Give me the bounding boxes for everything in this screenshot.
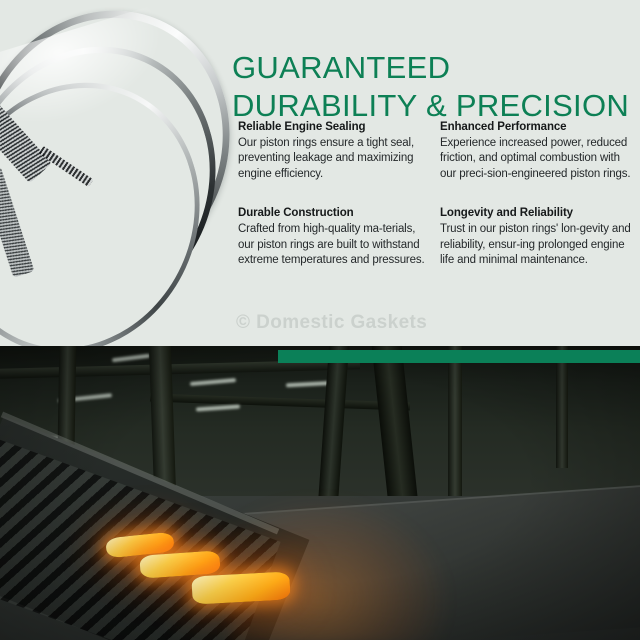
feature-body: Our piston rings ensure a tight seal, pr… (238, 136, 430, 182)
feature-grid: Reliable Engine Sealing Our piston rings… (238, 120, 636, 268)
marketing-banner: GUARANTEED DURABILITY & PRECISION Reliab… (0, 0, 640, 640)
industrial-plant-photo: 15 (0, 346, 640, 640)
glowing-hot-billet (191, 571, 290, 604)
copyright-watermark: © Domestic Gaskets (236, 312, 427, 334)
feature-card-longevity-and-reliability: Longevity and Reliability Trust in our p… (440, 206, 632, 268)
ceiling-light (190, 378, 236, 386)
ceiling-light (196, 404, 240, 411)
feature-title: Durable Construction (238, 206, 430, 220)
page-title: GUARANTEED DURABILITY & PRECISION (232, 49, 632, 125)
green-accent-bar (278, 350, 640, 363)
heat-haze-glow (230, 496, 450, 640)
overhead-beam-secondary (150, 393, 410, 410)
feature-card-reliable-engine-sealing: Reliable Engine Sealing Our piston rings… (238, 120, 430, 182)
feature-card-durable-construction: Durable Construction Crafted from high-q… (238, 206, 430, 268)
piston-rings-product-image (0, 6, 240, 346)
feature-body: Experience increased power, reduced fric… (440, 136, 632, 182)
structural-column (448, 346, 462, 496)
structural-column (556, 346, 568, 468)
feature-title: Reliable Engine Sealing (238, 120, 430, 134)
feature-title: Longevity and Reliability (440, 206, 632, 220)
ceiling-light (112, 354, 150, 363)
feature-title: Enhanced Performance (440, 120, 632, 134)
feature-body: Crafted from high-quality ma-terials, ou… (238, 222, 430, 268)
feature-card-enhanced-performance: Enhanced Performance Experience increase… (440, 120, 632, 182)
feature-body: Trust in our piston rings' lon-gevity an… (440, 222, 632, 268)
top-content-panel: GUARANTEED DURABILITY & PRECISION Reliab… (0, 0, 640, 346)
